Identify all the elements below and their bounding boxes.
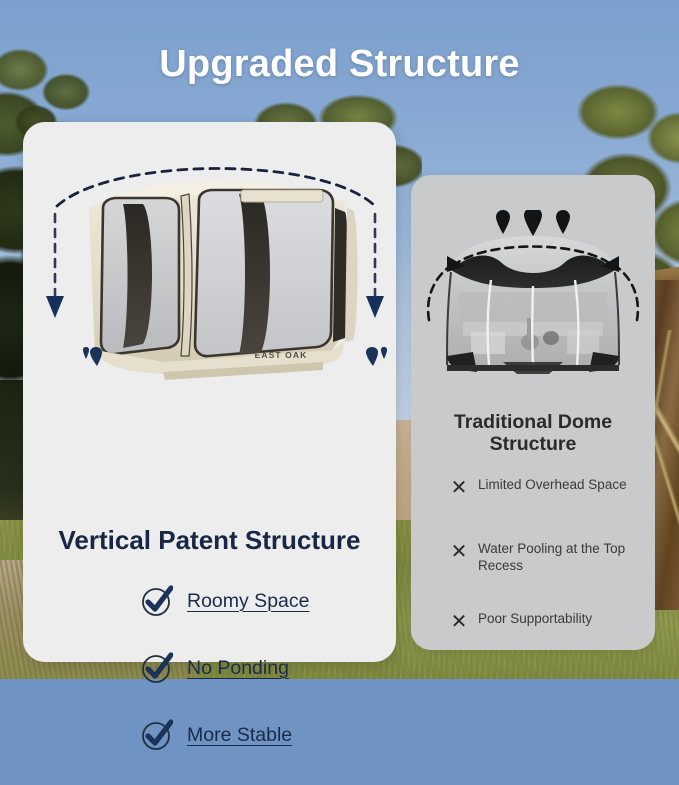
vertical-patent-card: EAST OAK Vertical Patent Structure Roomy… bbox=[23, 122, 396, 662]
page-title: Upgraded Structure bbox=[0, 43, 679, 86]
list-item: Roomy Space bbox=[141, 584, 401, 618]
list-item: No Ponding bbox=[141, 651, 401, 685]
traditional-dome-card: Traditional Dome Structure ✕ Limited Ove… bbox=[411, 175, 655, 650]
list-item-label: More Stable bbox=[187, 724, 292, 747]
left-card-feature-list: Roomy Space No Ponding More Stable bbox=[141, 584, 401, 785]
cross-icon: ✕ bbox=[449, 478, 469, 498]
list-item-label: Poor Supportability bbox=[478, 611, 592, 628]
right-card-feature-list: ✕ Limited Overhead Space ✕ Water Pooling… bbox=[449, 477, 655, 675]
list-item: ✕ Limited Overhead Space bbox=[449, 477, 655, 505]
list-item-label: No Ponding bbox=[187, 657, 289, 680]
vertical-tent-illustration: EAST OAK bbox=[23, 150, 396, 400]
check-circle-icon bbox=[141, 652, 173, 684]
dashed-down-arrow-icon-right bbox=[366, 214, 384, 318]
right-card-heading: Traditional Dome Structure bbox=[421, 411, 645, 456]
water-drop-icon-group bbox=[496, 210, 570, 236]
list-item: ✕ Poor Supportability bbox=[449, 611, 655, 639]
check-circle-icon bbox=[141, 585, 173, 617]
list-item: ✕ Water Pooling at the Top Recess bbox=[449, 541, 655, 575]
cross-icon: ✕ bbox=[449, 612, 469, 632]
list-item-label: Limited Overhead Space bbox=[478, 477, 627, 494]
dashed-down-arrow-icon-left bbox=[46, 214, 64, 318]
check-circle-icon bbox=[141, 719, 173, 751]
water-drop-icon-left bbox=[83, 347, 109, 372]
brand-label: EAST OAK bbox=[245, 350, 317, 360]
left-card-heading: Vertical Patent Structure bbox=[23, 525, 396, 556]
list-item: More Stable bbox=[141, 718, 401, 752]
cross-icon: ✕ bbox=[449, 542, 469, 562]
water-drop-icon-right bbox=[361, 347, 387, 372]
list-item-label: Roomy Space bbox=[187, 590, 309, 613]
dome-tent-illustration bbox=[417, 210, 649, 395]
list-item-label: Water Pooling at the Top Recess bbox=[478, 541, 655, 575]
